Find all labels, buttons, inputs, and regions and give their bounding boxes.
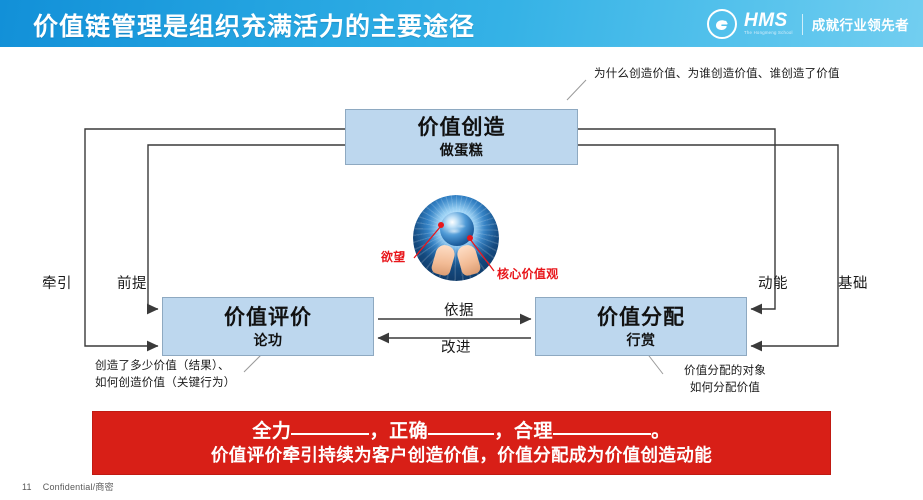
globe-in-hands-image xyxy=(413,195,499,281)
slide-root: 价值链管理是组织充满活力的主要途径 HMS The Hongmeng Schoo… xyxy=(0,0,923,500)
summary-banner: 全力，正确，合理。 价值评价牵引持续为客户创造价值，价值分配成为价值创造动能 xyxy=(92,411,831,475)
banner-line-1: 全力，正确，合理。 xyxy=(252,420,670,444)
callout-label-core-values: 核心价值观 xyxy=(497,265,559,282)
slide-footer: 11Confidential/商密 xyxy=(22,480,114,493)
box-title: 价值创造 xyxy=(418,115,506,140)
banner-blank-3 xyxy=(553,433,651,435)
callout-label-desire: 欲望 xyxy=(381,248,406,265)
annotation-line: 如何分配价值 xyxy=(684,380,766,397)
annotation-bottom-right: 价值分配的对象 如何分配价值 xyxy=(684,363,766,397)
banner-line-2: 价值评价牵引持续为客户创造价值，价值分配成为价值创造动能 xyxy=(211,444,712,467)
annotation-bottom-left: 创造了多少价值（结果）、 如何创造价值（关键行为） xyxy=(95,358,235,392)
annotation-line: 价值分配的对象 xyxy=(684,363,766,380)
brand-name: HMS xyxy=(744,12,793,29)
process-box-value-evaluation[interactable]: 价值评价 论功 xyxy=(162,297,374,356)
process-box-value-creation[interactable]: 价值创造 做蛋糕 xyxy=(345,109,578,165)
annotation-top-right: 为什么创造价值、为谁创造价值、谁创造了价值 xyxy=(594,66,840,83)
brand-lockup: HMS The Hongmeng School 成就行业领先者 xyxy=(707,9,909,39)
process-box-value-distribution[interactable]: 价值分配 行赏 xyxy=(535,297,747,356)
confidentiality-label: Confidential/商密 xyxy=(43,480,114,493)
connector-label-forward: 依据 xyxy=(444,299,474,320)
brand-text: HMS The Hongmeng School xyxy=(744,12,793,36)
brand-divider xyxy=(802,14,803,35)
banner-part-2: ，正确 xyxy=(369,421,428,442)
page-number: 11 xyxy=(22,482,32,492)
connector-label-backward: 改进 xyxy=(441,336,471,357)
globe-icon xyxy=(440,212,474,246)
banner-blank-2 xyxy=(428,433,494,435)
page-title: 价值链管理是组织充满活力的主要途径 xyxy=(33,7,475,43)
connector-label-left-inner: 前提 xyxy=(117,272,147,293)
banner-part-4: 。 xyxy=(651,421,671,442)
connector-label-right-inner: 动能 xyxy=(758,272,788,293)
brand-slogan: 成就行业领先者 xyxy=(812,14,909,34)
box-title: 价值评价 xyxy=(224,305,312,330)
diagram-canvas: 价值创造 做蛋糕 价值评价 论功 价值分配 行赏 牵引 前提 动能 基础 依据 … xyxy=(0,47,923,500)
hms-circle-logo-icon xyxy=(707,9,737,39)
annotation-line: 创造了多少价值（结果）、 xyxy=(95,358,235,375)
box-subtitle: 做蛋糕 xyxy=(440,141,484,159)
box-subtitle: 论功 xyxy=(254,331,283,349)
banner-part-1: 全力 xyxy=(252,421,291,442)
box-subtitle: 行赏 xyxy=(627,331,656,349)
banner-part-3: ，合理 xyxy=(494,421,553,442)
connector-label-right-outer: 基础 xyxy=(838,272,868,293)
banner-blank-1 xyxy=(291,433,369,435)
annotation-line: 如何创造价值（关键行为） xyxy=(95,375,235,392)
slide-header: 价值链管理是组织充满活力的主要途径 HMS The Hongmeng Schoo… xyxy=(0,0,923,47)
connector-label-left-outer: 牵引 xyxy=(42,272,72,293)
box-title: 价值分配 xyxy=(597,305,685,330)
brand-subtitle: The Hongmeng School xyxy=(744,29,793,36)
